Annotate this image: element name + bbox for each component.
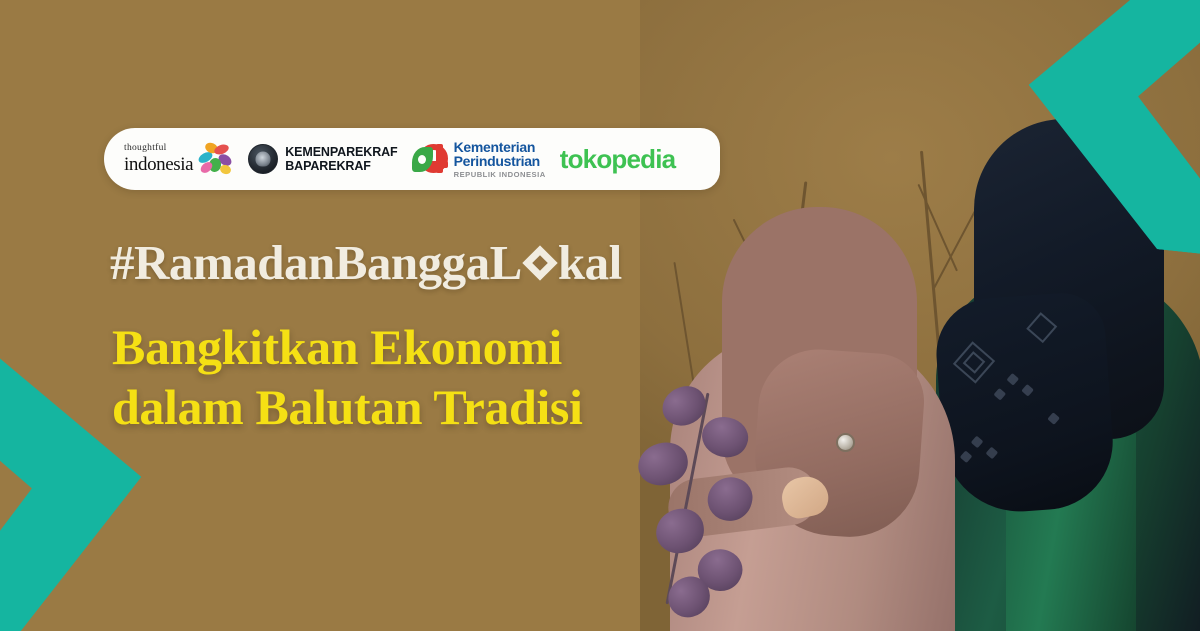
model-back-hijab-drape [933, 290, 1118, 516]
thoughtful-indonesia-line1: thoughtful [124, 144, 193, 154]
perindustrian-line3: REPUBLIK INDONESIA [454, 171, 546, 179]
thoughtful-indonesia-line2: indonesia [124, 155, 193, 174]
logo-thoughtful-indonesia: thoughtful indonesia [124, 128, 234, 190]
hashtag-part2: kal [558, 234, 622, 291]
gear-leaf-icon [412, 142, 448, 176]
partner-logo-bar: thoughtful indonesia KEMENPAREKRAF BAPAR… [104, 128, 720, 190]
perindustrian-line2: Perindustrian [454, 154, 546, 169]
logo-kementerian-perindustrian: Kementerian Perindustrian REPUBLIK INDON… [412, 128, 546, 190]
headline: Bangkitkan Ekonomi dalam Balutan Tradisi [112, 318, 582, 438]
purple-foliage [590, 381, 800, 631]
kemenparekraf-line1: KEMENPAREKRAF [285, 145, 397, 160]
logo-tokopedia: tokopedia [560, 144, 676, 175]
headline-line-2: dalam Balutan Tradisi [112, 378, 582, 436]
logo-kemenparekraf: KEMENPAREKRAF BAPAREKRAF [248, 128, 397, 190]
garuda-emblem-icon [248, 144, 278, 174]
headline-line-1: Bangkitkan Ekonomi [112, 318, 582, 376]
campaign-hashtag: #RamadanBanggaL kal [110, 234, 622, 291]
promotional-banner: thoughtful indonesia KEMENPAREKRAF BAPAR… [0, 0, 1200, 631]
brooch [836, 433, 855, 452]
perindustrian-line1: Kementerian [454, 140, 546, 155]
kemenparekraf-line2: BAPAREKRAF [285, 159, 397, 174]
hashtag-part1: #RamadanBanggaL [110, 234, 522, 291]
thoughtful-indonesia-swirl-icon [196, 141, 234, 177]
diamond-ornament-icon [523, 246, 557, 280]
